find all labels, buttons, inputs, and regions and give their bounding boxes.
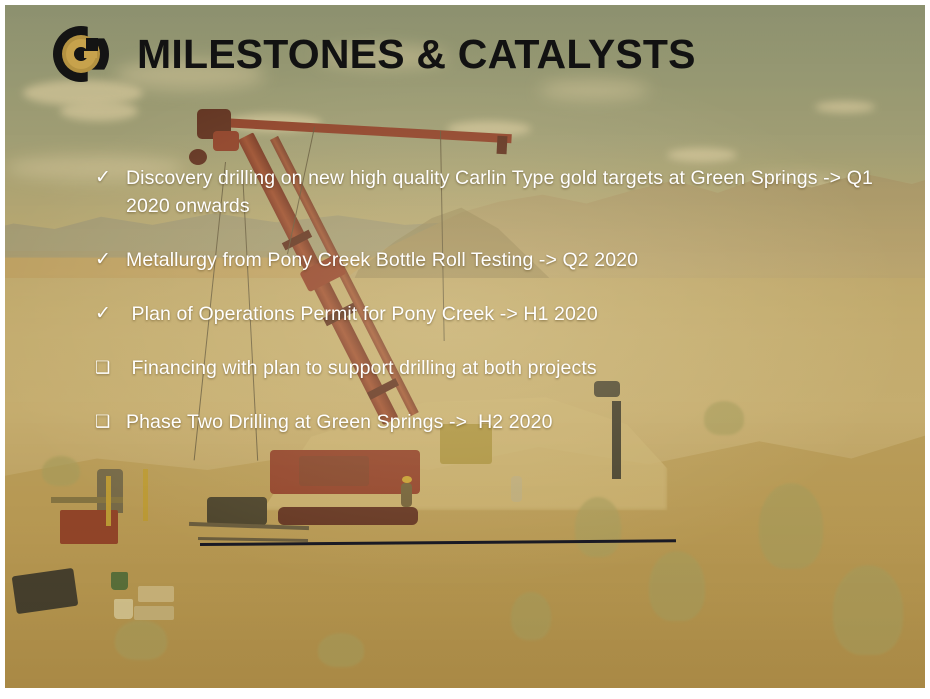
rig-pulley [189, 149, 207, 165]
title-bar: MILESTONES & CATALYSTS [5, 5, 925, 103]
slide-frame-left [0, 0, 5, 699]
list-item-text: Phase Two Drilling at Green Springs -> H… [126, 408, 902, 436]
page-title: MILESTONES & CATALYSTS [137, 34, 696, 75]
presentation-slide: MILESTONES & CATALYSTS ✓ Discovery drill… [0, 0, 930, 699]
contact-gold-logo-icon [53, 26, 109, 82]
sample-bags [138, 586, 174, 602]
cloud [60, 101, 138, 121]
yellow-rod-rack [143, 469, 148, 521]
logo-g-notch [86, 38, 98, 51]
grass-tuft [318, 633, 364, 667]
list-item: ❑ Financing with plan to support drillin… [92, 354, 902, 382]
rig-boom [221, 118, 513, 143]
rig-boom-tip [496, 135, 507, 153]
mud-tank [207, 497, 267, 525]
worker-figure [401, 483, 412, 507]
grass-tuft [115, 620, 167, 660]
slide-frame-bottom [0, 688, 930, 699]
list-item: ✓ Discovery drilling on new high quality… [92, 164, 902, 220]
grass-tuft [833, 565, 903, 655]
slide-frame-right [925, 0, 930, 699]
grass-tuft [42, 456, 80, 486]
grass-tuft [649, 551, 705, 621]
grass-tuft [511, 592, 551, 640]
list-item-text: Discovery drilling on new high quality C… [126, 164, 902, 220]
list-item-text: Plan of Operations Permit for Pony Creek… [126, 300, 902, 328]
yellow-rod-rack [106, 476, 111, 526]
list-item: ✓ Metallurgy from Pony Creek Bottle Roll… [92, 246, 902, 274]
logo-g-crossbar [84, 51, 97, 58]
sample-bucket [111, 572, 128, 590]
list-item: ❑ Phase Two Drilling at Green Springs ->… [92, 408, 902, 436]
checkmark-icon: ✓ [92, 164, 126, 192]
list-item-text: Metallurgy from Pony Creek Bottle Roll T… [126, 246, 902, 274]
list-item-text: Financing with plan to support drilling … [126, 354, 902, 382]
list-item: ✓ Plan of Operations Permit for Pony Cre… [92, 300, 902, 328]
checkmark-icon: ✓ [92, 300, 126, 328]
checkmark-icon: ✓ [92, 246, 126, 274]
empty-checkbox-icon: ❑ [92, 408, 126, 436]
milestones-list: ✓ Discovery drilling on new high quality… [92, 164, 902, 462]
slide-frame-top [0, 0, 930, 5]
empty-checkbox-icon: ❑ [92, 354, 126, 382]
rig-track [278, 507, 418, 525]
sample-bags [134, 606, 174, 620]
worker-figure [511, 476, 522, 502]
sample-bucket [114, 599, 133, 619]
equipment-frame [51, 497, 123, 503]
grass-tuft [759, 483, 823, 569]
rig-head-plate [213, 131, 239, 151]
